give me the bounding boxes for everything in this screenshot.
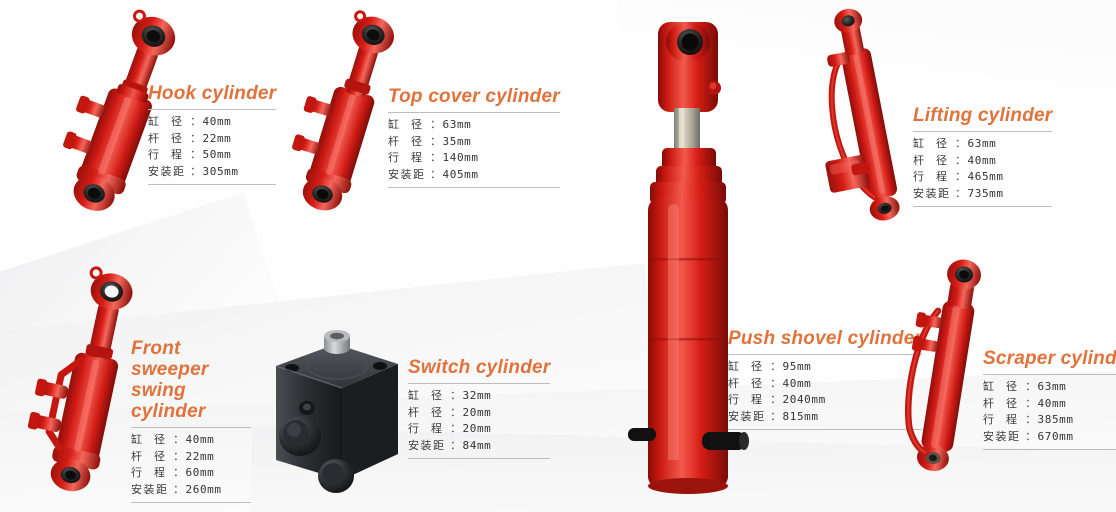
spec-key-stroke: 行 程 [148, 147, 190, 163]
switch-cylinder-image [258, 330, 408, 500]
spec-value-stroke: 60mm [186, 465, 215, 481]
product-label-switch-cylinder: Switch cylinder 缸 径 ： 32mm 杆 径 ： 20mm 行 … [408, 357, 550, 459]
spec-row-rod: 杆 径 ： 40mm [983, 396, 1116, 413]
spec-row-bore: 缸 径 ： 63mm [983, 379, 1116, 396]
spec-row-bore: 缸 径 ： 40mm [148, 114, 276, 131]
lifting-cylinder-image [795, 6, 930, 231]
spec-row-bore: 缸 径 ： 63mm [388, 117, 560, 134]
spec-separator: ： [955, 187, 967, 203]
spec-row-mounting: 安装距 ： 84mm [408, 438, 550, 455]
spec-value-stroke: 140mm [443, 150, 479, 166]
spec-key-stroke: 行 程 [728, 392, 770, 408]
spec-separator: ： [955, 154, 967, 170]
spec-row-stroke: 行 程 ： 50mm [148, 147, 276, 164]
spec-value-mounting: 815mm [783, 409, 819, 425]
spec-row-mounting: 安装距 ： 260mm [131, 482, 251, 499]
spec-value-bore: 40mm [203, 114, 232, 130]
spec-row-rod: 杆 径 ： 22mm [148, 131, 276, 148]
spec-value-rod: 40mm [1038, 396, 1067, 412]
spec-separator: ： [173, 433, 185, 449]
spec-separator: ： [430, 151, 442, 167]
product-title: Switch cylinder [408, 357, 550, 378]
spec-separator: ： [770, 410, 782, 426]
spec-row-rod: 杆 径 ： 20mm [408, 405, 550, 422]
product-label-scraper-cylinder: Scraper cylinder 缸 径 ： 63mm 杆 径 ： 40mm 行… [983, 348, 1116, 450]
spec-value-rod: 35mm [443, 134, 472, 150]
spec-key-mounting: 安装距 [728, 409, 770, 425]
spec-key-bore: 缸 径 [913, 136, 955, 152]
spec-separator: ： [190, 132, 202, 148]
spec-key-mounting: 安装距 [388, 167, 430, 183]
spec-value-stroke: 2040mm [783, 392, 826, 408]
spec-separator: ： [430, 118, 442, 134]
spec-separator: ： [173, 466, 185, 482]
spec-separator: ： [173, 483, 185, 499]
spec-separator: ： [450, 422, 462, 438]
spec-key-stroke: 行 程 [913, 169, 955, 185]
spec-value-bore: 95mm [783, 359, 812, 375]
spec-row-rod: 杆 径 ： 35mm [388, 134, 560, 151]
spec-row-stroke: 行 程 ： 140mm [388, 150, 560, 167]
spec-separator: ： [450, 389, 462, 405]
spec-value-mounting: 260mm [186, 482, 222, 498]
scraper-cylinder-image [880, 250, 1000, 500]
spec-separator: ： [173, 450, 185, 466]
spec-separator: ： [190, 148, 202, 164]
spec-separator: ： [1025, 397, 1037, 413]
spec-key-rod: 杆 径 [408, 405, 450, 421]
spec-row-stroke: 行 程 ： 60mm [131, 465, 251, 482]
spec-value-mounting: 84mm [463, 438, 492, 454]
spec-row-mounting: 安装距 ： 305mm [148, 164, 276, 181]
spec-row-bore: 缸 径 ： 63mm [913, 136, 1052, 153]
spec-separator: ： [955, 170, 967, 186]
spec-separator: ： [430, 135, 442, 151]
spec-key-rod: 杆 径 [131, 449, 173, 465]
spec-key-mounting: 安装距 [148, 164, 190, 180]
spec-value-rod: 40mm [783, 376, 812, 392]
spec-value-mounting: 405mm [443, 167, 479, 183]
spec-value-mounting: 735mm [968, 186, 1004, 202]
spec-value-bore: 40mm [186, 432, 215, 448]
product-label-hook-cylinder: Hook cylinder 缸 径 ： 40mm 杆 径 ： 22mm 行 程 … [148, 83, 276, 185]
product-title: Scraper cylinder [983, 348, 1116, 369]
spec-table: 缸 径 ： 32mm 杆 径 ： 20mm 行 程 ： 20mm 安装距 ： 8… [408, 383, 550, 459]
spec-key-rod: 杆 径 [728, 376, 770, 392]
spec-row-bore: 缸 径 ： 32mm [408, 388, 550, 405]
spec-key-bore: 缸 径 [728, 359, 770, 375]
product-title: Top cover cylinder [388, 86, 560, 107]
product-board: Hook cylinder 缸 径 ： 40mm 杆 径 ： 22mm 行 程 … [0, 0, 1116, 512]
spec-separator: ： [1025, 413, 1037, 429]
spec-row-bore: 缸 径 ： 40mm [131, 432, 251, 449]
spec-value-mounting: 305mm [203, 164, 239, 180]
spec-value-rod: 20mm [463, 405, 492, 421]
spec-table: 缸 径 ： 63mm 杆 径 ： 40mm 行 程 ： 465mm 安装距 ： … [913, 131, 1052, 207]
spec-key-rod: 杆 径 [983, 396, 1025, 412]
push-shovel-cylinder-image [640, 8, 750, 508]
spec-key-stroke: 行 程 [131, 465, 173, 481]
spec-row-stroke: 行 程 ： 385mm [983, 412, 1116, 429]
spec-separator: ： [190, 165, 202, 181]
product-title: Hook cylinder [148, 83, 276, 104]
spec-row-mounting: 安装距 ： 405mm [388, 167, 560, 184]
product-title-line-1: Front sweeper [131, 338, 208, 380]
spec-value-bore: 63mm [443, 117, 472, 133]
spec-key-stroke: 行 程 [388, 150, 430, 166]
spec-table: 缸 径 ： 40mm 杆 径 ： 22mm 行 程 ： 50mm 安装距 ： 3… [148, 109, 276, 185]
spec-key-mounting: 安装距 [983, 429, 1025, 445]
spec-key-mounting: 安装距 [913, 186, 955, 202]
spec-row-stroke: 行 程 ： 20mm [408, 421, 550, 438]
spec-row-rod: 杆 径 ： 40mm [913, 153, 1052, 170]
spec-key-rod: 杆 径 [388, 134, 430, 150]
spec-separator: ： [1025, 380, 1037, 396]
spec-key-mounting: 安装距 [131, 482, 173, 498]
spec-key-rod: 杆 径 [148, 131, 190, 147]
spec-value-bore: 32mm [463, 388, 492, 404]
spec-key-bore: 缸 径 [408, 388, 450, 404]
product-label-lifting-cylinder: Lifting cylinder 缸 径 ： 63mm 杆 径 ： 40mm 行… [913, 105, 1052, 207]
spec-key-stroke: 行 程 [408, 421, 450, 437]
spec-key-bore: 缸 径 [131, 432, 173, 448]
spec-key-mounting: 安装距 [408, 438, 450, 454]
spec-value-stroke: 20mm [463, 421, 492, 437]
spec-value-rod: 22mm [186, 449, 215, 465]
spec-value-bore: 63mm [1038, 379, 1067, 395]
spec-separator: ： [430, 168, 442, 184]
spec-value-stroke: 465mm [968, 169, 1004, 185]
spec-separator: ： [770, 377, 782, 393]
spec-separator: ： [190, 115, 202, 131]
spec-separator: ： [955, 137, 967, 153]
spec-separator: ： [770, 393, 782, 409]
spec-separator: ： [450, 406, 462, 422]
spec-separator: ： [1025, 430, 1037, 446]
spec-table: 缸 径 ： 40mm 杆 径 ： 22mm 行 程 ： 60mm 安装距 ： 2… [131, 427, 251, 503]
spec-value-stroke: 50mm [203, 147, 232, 163]
spec-separator: ： [450, 439, 462, 455]
product-title: Lifting cylinder [913, 105, 1052, 126]
spec-key-stroke: 行 程 [983, 412, 1025, 428]
spec-value-bore: 63mm [968, 136, 997, 152]
product-title: Front sweeper swing cylinder [131, 338, 251, 422]
spec-value-mounting: 670mm [1038, 429, 1074, 445]
spec-row-mounting: 安装距 ： 735mm [913, 186, 1052, 203]
spec-value-rod: 40mm [968, 153, 997, 169]
spec-key-rod: 杆 径 [913, 153, 955, 169]
product-title-line-2: swing cylinder [131, 380, 205, 422]
spec-value-stroke: 385mm [1038, 412, 1074, 428]
spec-row-stroke: 行 程 ： 465mm [913, 169, 1052, 186]
spec-key-bore: 缸 径 [983, 379, 1025, 395]
spec-value-rod: 22mm [203, 131, 232, 147]
spec-key-bore: 缸 径 [388, 117, 430, 133]
spec-key-bore: 缸 径 [148, 114, 190, 130]
spec-row-mounting: 安装距 ： 670mm [983, 429, 1116, 446]
spec-separator: ： [770, 360, 782, 376]
product-label-top-cover-cylinder: Top cover cylinder 缸 径 ： 63mm 杆 径 ： 35mm… [388, 86, 560, 188]
product-label-front-sweeper-swing-cylinder: Front sweeper swing cylinder 缸 径 ： 40mm … [131, 338, 251, 503]
spec-row-rod: 杆 径 ： 22mm [131, 449, 251, 466]
spec-table: 缸 径 ： 63mm 杆 径 ： 35mm 行 程 ： 140mm 安装距 ： … [388, 112, 560, 188]
spec-table: 缸 径 ： 63mm 杆 径 ： 40mm 行 程 ： 385mm 安装距 ： … [983, 374, 1116, 450]
